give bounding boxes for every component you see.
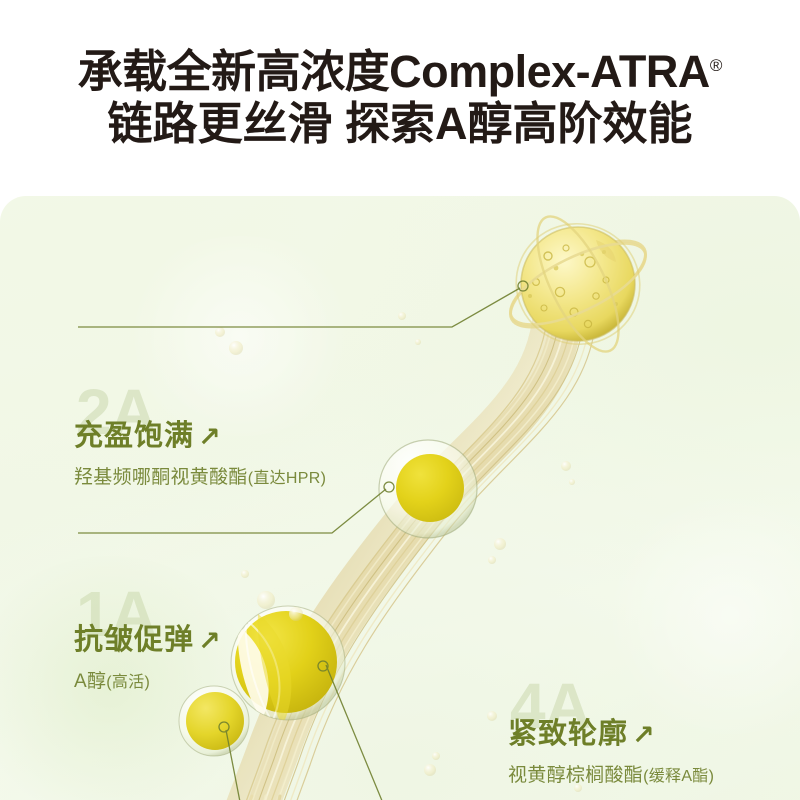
arrow-up-right-icon: ↗ [198,424,222,451]
arrow-up-right-icon: ↗ [198,628,222,655]
sphere-2a-gel-orbital [499,206,658,363]
ingredient-subtitle-1a: A醇(高活) [74,666,222,693]
headline-secondary: 链路更丝滑 探索A醇高阶效能 [107,99,692,149]
ingredient-label-2a[interactable]: 2A 充盈饱满↗ 羟基频哪酮视黄酸酯(直达HPR) [74,422,326,489]
registered-trademark-icon: ® [710,56,723,75]
ingredient-subtitle-2a: 羟基频哪酮视黄酸酯(直达HPR) [74,462,326,489]
ingredient-diagram-panel: 2A 充盈饱满↗ 羟基频哪酮视黄酸酯(直达HPR) 1A 抗皱促弹↗ A醇(高活… [0,196,800,800]
sphere-3a-small [179,686,249,756]
ingredient-title-4a-text: 紧致轮廓 [508,718,628,750]
ingredient-subtitle-4a-main: 视黄醇棕榈酸酯 [508,765,643,786]
ingredient-title-2a: 充盈饱满↗ [74,422,326,451]
ingredient-title-2a-text: 充盈饱满 [74,420,194,452]
ingredient-title-1a: 抗皱促弹↗ [74,626,222,655]
ingredient-title-4a: 紧致轮廓↗ [508,720,714,749]
arrow-up-right-icon: ↗ [632,722,656,749]
ingredient-subtitle-2a-paren: (直达HPR) [248,470,327,487]
ingredient-title-1a-text: 抗皱促弹 [74,624,194,656]
ingredient-subtitle-4a: 视黄醇棕榈酸酯(缓释A酯) [508,760,714,787]
ingredient-subtitle-1a-main: A醇 [74,671,106,692]
header-banner: 承载全新高浓度Complex-ATRA® 链路更丝滑 探索A醇高阶效能 [0,0,800,196]
ingredient-subtitle-1a-paren: (高活) [106,674,150,691]
headline-primary: 承载全新高浓度Complex-ATRA® [78,47,723,97]
ingredient-label-1a[interactable]: 1A 抗皱促弹↗ A醇(高活) [74,626,222,693]
headline-primary-text: 承载全新高浓度Complex-ATRA [78,46,710,97]
ingredient-label-4a[interactable]: 4A 紧致轮廓↗ 视黄醇棕榈酸酯(缓释A酯) [508,720,714,787]
ingredient-subtitle-2a-main: 羟基频哪酮视黄酸酯 [74,467,248,488]
ingredient-subtitle-4a-paren: (缓释A酯) [643,768,714,785]
artwork-svg [0,196,800,800]
